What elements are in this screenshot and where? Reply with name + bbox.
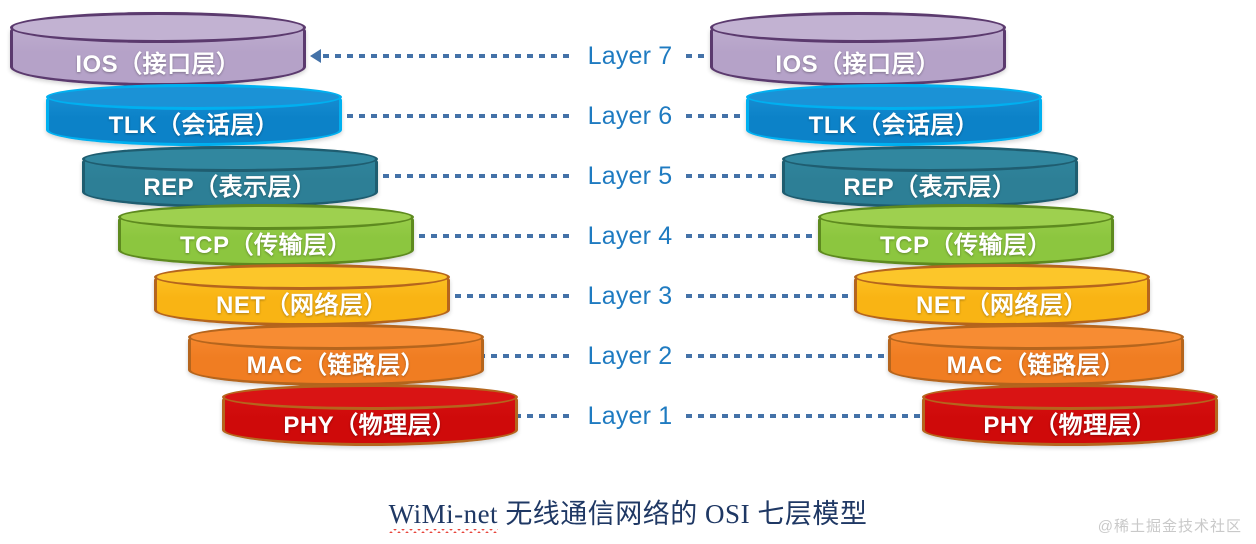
left-layer-net[interactable]: NET（网络层） [154,264,450,326]
title-rest: 无线通信网络的 OSI 七层模型 [498,499,867,529]
left-layer-phy[interactable]: PHY（物理层） [222,384,518,446]
right-osi-stack: IOS（接口层）TLK（会话层）REP（表示层）TCP（传输层）NET（网络层）… [700,0,1256,460]
watermark: @稀土掘金技术社区 [1098,515,1242,536]
left-mac-cylinder-top [188,324,484,350]
right-layer-ios[interactable]: IOS（接口层） [710,12,1006,86]
layer-label-3: Layer 3 [574,282,687,311]
right-ios-cylinder-top [710,12,1006,43]
left-layer-tlk[interactable]: TLK（会话层） [46,84,342,146]
right-phy-cylinder-top [922,384,1218,410]
right-layer-tcp[interactable]: TCP（传输层） [818,204,1114,266]
left-phy-cylinder-top [222,384,518,410]
diagram-title: WiMi-net 无线通信网络的 OSI 七层模型 [0,492,1256,531]
right-layer-phy[interactable]: PHY（物理层） [922,384,1218,446]
right-net-cylinder-top [854,264,1150,290]
left-layer-mac[interactable]: MAC（链路层） [188,324,484,386]
right-rep-cylinder-top [782,146,1078,172]
left-net-cylinder-top [154,264,450,290]
right-layer-rep[interactable]: REP（表示层） [782,146,1078,208]
left-osi-stack: IOS（接口层）TLK（会话层）REP（表示层）TCP（传输层）NET（网络层）… [0,0,560,460]
right-tlk-cylinder-top [746,84,1042,110]
layer-label-1: Layer 1 [574,402,687,431]
layer-label-2: Layer 2 [574,342,687,371]
layer-label-4: Layer 4 [574,222,687,251]
layer-label-5: Layer 5 [574,162,687,191]
left-ios-cylinder-top [10,12,306,43]
left-tlk-cylinder-top [46,84,342,110]
right-mac-cylinder-top [888,324,1184,350]
osi-diagram-canvas: IOS（接口层）TLK（会话层）REP（表示层）TCP（传输层）NET（网络层）… [0,0,1256,544]
left-rep-cylinder-top [82,146,378,172]
left-layer-ios[interactable]: IOS（接口层） [10,12,306,86]
right-layer-mac[interactable]: MAC（链路层） [888,324,1184,386]
right-layer-net[interactable]: NET（网络层） [854,264,1150,326]
right-tcp-cylinder-top [818,204,1114,230]
layer-label-6: Layer 6 [574,102,687,131]
layer-label-7: Layer 7 [574,42,687,71]
left-tcp-cylinder-top [118,204,414,230]
right-layer-tlk[interactable]: TLK（会话层） [746,84,1042,146]
left-layer-rep[interactable]: REP（表示层） [82,146,378,208]
left-layer-tcp[interactable]: TCP（传输层） [118,204,414,266]
title-latin: WiMi-net [389,499,498,530]
